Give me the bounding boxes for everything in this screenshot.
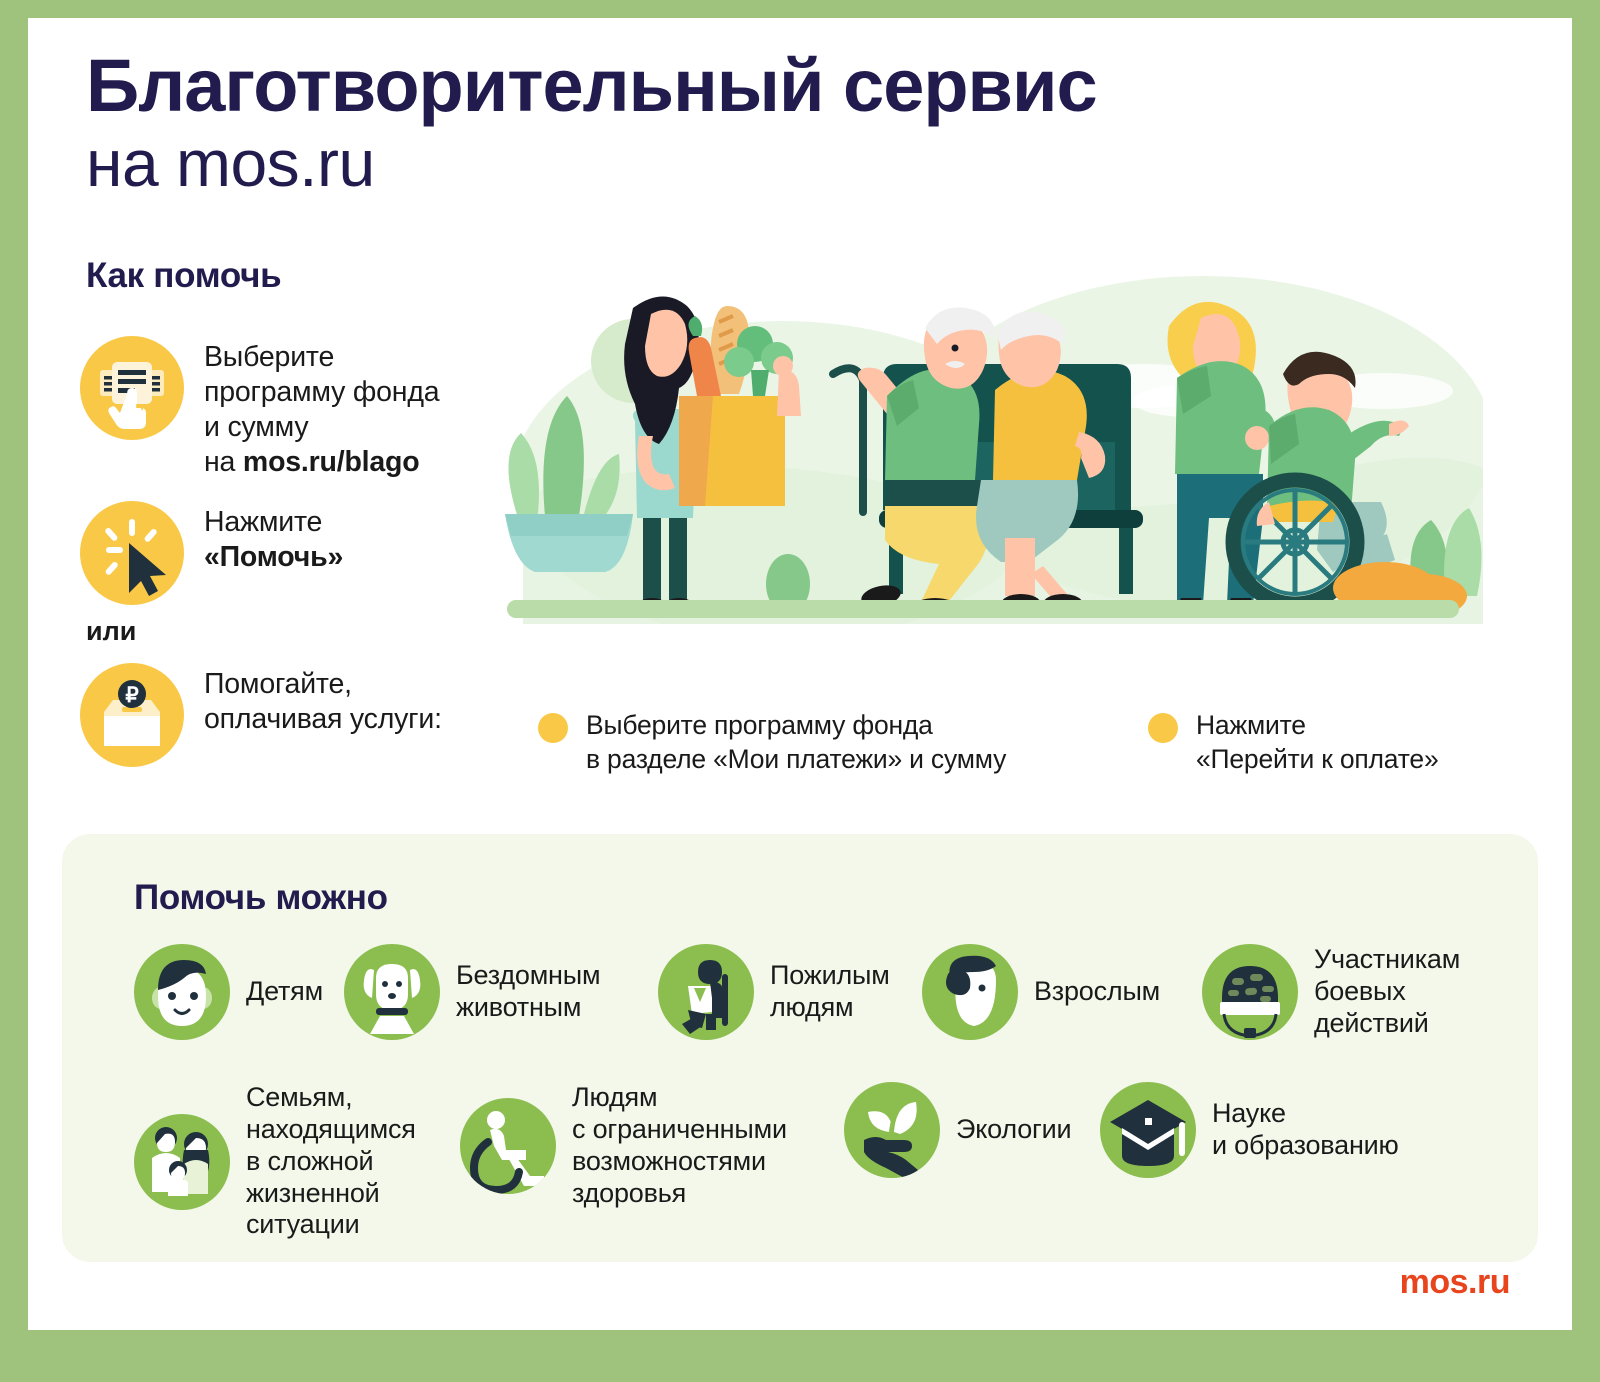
category-stray-animals-label: Бездомнымживотным xyxy=(456,960,600,1024)
category-children[interactable]: Детям xyxy=(134,944,323,1040)
adult-face-icon xyxy=(922,944,1018,1040)
category-science-education[interactable]: Наукеи образованию xyxy=(1100,1082,1399,1178)
svg-text:₽: ₽ xyxy=(125,684,139,707)
page-title-line2: на mos.ru xyxy=(86,127,1097,200)
who-to-help-heading: Помочь можно xyxy=(134,878,388,918)
document-select-icon xyxy=(80,336,184,440)
category-elderly-label: Пожилымлюдям xyxy=(770,960,890,1024)
bullet-dot-icon xyxy=(538,713,568,743)
category-adults[interactable]: Взрослым xyxy=(922,944,1160,1040)
category-combat-veterans[interactable]: Участникамбоевыхдействий xyxy=(1202,944,1460,1040)
category-adults-label: Взрослым xyxy=(1034,976,1160,1008)
how-step-1-text: Выберитепрограмму фондаи суммуна mos.ru/… xyxy=(204,336,439,480)
category-ecology-label: Экологии xyxy=(956,1114,1071,1146)
or-separator-label: или xyxy=(86,616,136,647)
donation-box-ruble-icon: ₽ xyxy=(80,663,184,767)
bullet-dot-icon xyxy=(1148,713,1178,743)
dog-icon xyxy=(344,944,440,1040)
category-families-in-crisis-label: Семьям,находящимсяв сложнойжизненнойситу… xyxy=(246,1082,416,1241)
category-stray-animals[interactable]: Бездомнымживотным xyxy=(344,944,600,1040)
category-disabilities[interactable]: Людямс ограниченнымивозможностямиздоровь… xyxy=(460,1082,787,1209)
how-step-2: Нажмите«Помочь» xyxy=(80,501,343,605)
poster-canvas: Благотворительный сервис на mos.ru Как п… xyxy=(28,18,1572,1330)
payment-bullet-1: Выберите программу фондав разделе «Мои п… xyxy=(538,708,1006,777)
military-helmet-icon xyxy=(1202,944,1298,1040)
category-combat-veterans-label: Участникамбоевыхдействий xyxy=(1314,944,1460,1040)
page-title-line1: Благотворительный сервис xyxy=(86,48,1097,123)
how-step-2-text: Нажмите«Помочь» xyxy=(204,501,343,575)
how-step-1: Выберитепрограмму фондаи суммуна mos.ru/… xyxy=(80,336,439,480)
who-to-help-panel: Помочь можно Детям xyxy=(62,834,1538,1262)
category-families-in-crisis[interactable]: Семьям,находящимсяв сложнойжизненнойситу… xyxy=(134,1082,416,1241)
elderly-person-icon xyxy=(658,944,754,1040)
page-title: Благотворительный сервис на mos.ru xyxy=(86,48,1097,200)
click-cursor-icon xyxy=(80,501,184,605)
category-elderly[interactable]: Пожилымлюдям xyxy=(658,944,890,1040)
family-group-icon xyxy=(134,1114,230,1210)
child-face-icon xyxy=(134,944,230,1040)
how-step-3: ₽ Помогайте,оплачивая услуги: xyxy=(80,663,442,767)
category-disabilities-label: Людямс ограниченнымивозможностямиздоровь… xyxy=(572,1082,787,1209)
charity-illustration xyxy=(483,266,1483,624)
graduation-cap-icon xyxy=(1100,1082,1196,1178)
category-ecology[interactable]: Экологии xyxy=(844,1082,1071,1178)
how-step-3-text: Помогайте,оплачивая услуги: xyxy=(204,663,442,737)
payment-bullet-2: Нажмите«Перейти к оплате» xyxy=(1148,708,1438,777)
payment-bullet-1-text: Выберите программу фондав разделе «Мои п… xyxy=(586,708,1006,777)
how-to-help-heading: Как помочь xyxy=(86,256,281,296)
category-children-label: Детям xyxy=(246,976,323,1008)
mosru-logo[interactable]: mos.ru xyxy=(1400,1263,1510,1302)
eco-hand-leaf-icon xyxy=(844,1082,940,1178)
category-science-education-label: Наукеи образованию xyxy=(1212,1098,1399,1162)
payment-bullet-2-text: Нажмите«Перейти к оплате» xyxy=(1196,708,1438,777)
wheelchair-icon xyxy=(460,1098,556,1194)
